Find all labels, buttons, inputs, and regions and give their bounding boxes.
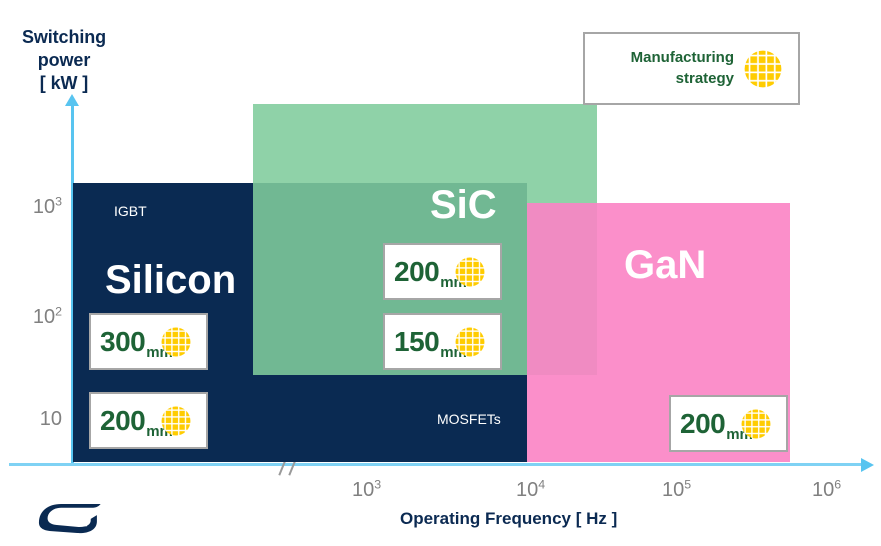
- wafer-icon: [742, 48, 784, 90]
- label-mosfets: MOSFETs: [437, 411, 501, 427]
- y-axis-title-line2: power: [8, 49, 120, 72]
- chart-canvas: Switching power [ kW ] 103 102 10 IGBT S…: [0, 0, 881, 546]
- badge-size-value: 300: [100, 326, 145, 358]
- badge-size-value: 200: [680, 408, 725, 440]
- legend-manufacturing-strategy: Manufacturing strategy: [583, 32, 800, 105]
- x-axis-arrow-icon: [861, 458, 874, 472]
- legend-label: Manufacturing strategy: [631, 48, 734, 89]
- wafer-icon: [453, 325, 487, 359]
- x-tick-100000: 105: [662, 479, 691, 502]
- badge-silicon-200mm: 200 mm: [89, 392, 208, 449]
- badge-gan-200mm: 200 mm: [669, 395, 788, 452]
- y-axis-title-line3: [ kW ]: [8, 72, 120, 95]
- label-sic: SiC: [430, 183, 497, 228]
- badge-size-value: 200: [100, 405, 145, 437]
- badge-sic-200mm: 200 mm: [383, 243, 502, 300]
- y-tick-1000: 103: [10, 196, 62, 219]
- x-tick-10000: 104: [516, 479, 545, 502]
- y-axis-title: Switching power [ kW ]: [8, 26, 120, 95]
- badge-size-value: 200: [394, 256, 439, 288]
- badge-size-value: 150: [394, 326, 439, 358]
- wafer-icon: [739, 407, 773, 441]
- legend-label-line2: strategy: [631, 69, 734, 89]
- label-silicon: Silicon: [105, 258, 236, 303]
- badge-silicon-300mm: 300 mm: [89, 313, 208, 370]
- x-axis-line: [9, 463, 864, 466]
- y-axis-title-line1: Switching: [8, 26, 120, 49]
- x-axis-title: Operating Frequency [ Hz ]: [400, 509, 617, 529]
- st-microelectronics-logo: [34, 497, 108, 537]
- badge-sic-150mm: 150 mm: [383, 313, 502, 370]
- label-igbt: IGBT: [114, 203, 147, 219]
- x-tick-1000000: 106: [812, 479, 841, 502]
- legend-label-line1: Manufacturing: [631, 48, 734, 68]
- label-gan: GaN: [624, 243, 706, 288]
- wafer-icon: [159, 404, 193, 438]
- wafer-icon: [159, 325, 193, 359]
- wafer-icon: [453, 255, 487, 289]
- x-tick-1000: 103: [352, 479, 381, 502]
- y-tick-10: 10: [10, 408, 62, 431]
- y-tick-100: 102: [10, 306, 62, 329]
